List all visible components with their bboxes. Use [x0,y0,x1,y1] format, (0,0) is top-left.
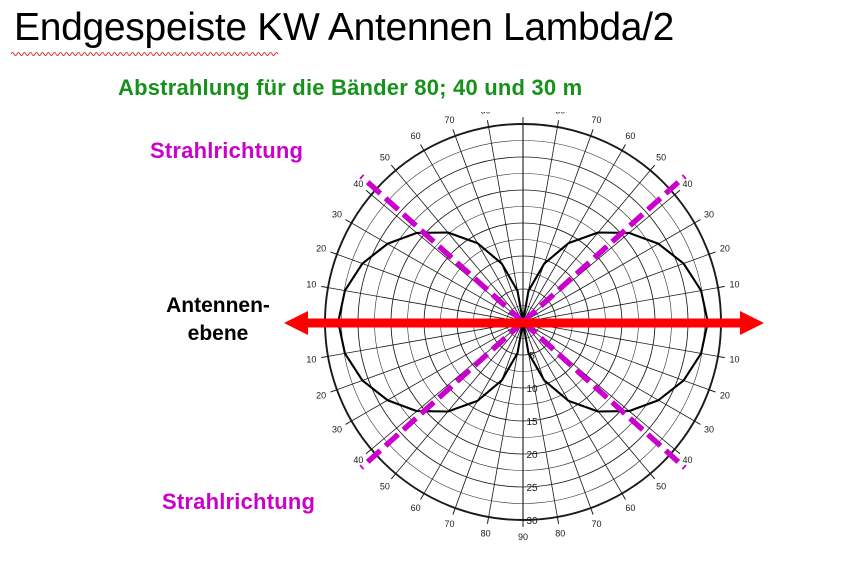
double-headed-arrow-icon [284,311,764,335]
polar-rim-label: 40 [353,179,363,189]
polar-rim-label: 80 [481,112,491,115]
polar-rim-label: 30 [704,210,714,220]
polar-rim-label: 20 [316,244,326,254]
polar-rim-label: 70 [445,115,455,125]
polar-rim-label: 20 [720,390,730,400]
polar-rim-label: 30 [704,424,714,434]
polar-rim-label: 70 [591,115,601,125]
polar-rim-label: 60 [411,131,421,141]
polar-rim-label: 40 [683,179,693,189]
polar-rim-label: 10 [306,354,316,364]
polar-radial-label: 10 [526,384,538,395]
page-title: Endgespeiste KW Antennen Lambda/2 [14,6,674,50]
polar-rim-label: 70 [445,519,455,529]
polar-rim-label: 40 [683,455,693,465]
polar-radial-label: 25 [526,483,538,494]
antenna-plane-label-line2: ebene [130,320,306,348]
polar-rim-label: 60 [411,503,421,513]
polar-rim-label: 50 [380,152,390,162]
polar-rim-label: 50 [380,482,390,492]
polar-rim-label: 50 [656,482,666,492]
polar-rim-label: 10 [730,354,740,364]
polar-rim-label: 20 [720,244,730,254]
polar-rim-label: 90 [518,532,528,542]
polar-radial-label: 20 [526,450,538,461]
polar-radial-label: 30 [526,516,538,527]
polar-rim-label: 40 [353,455,363,465]
polar-radial-label: 15 [526,417,538,428]
polar-rim-label: 80 [481,529,491,539]
page-subtitle: Abstrahlung für die Bänder 80; 40 und 30… [118,75,582,101]
antenna-plane-label-line1: Antennen- [130,292,306,320]
polar-rim-label: 80 [555,529,565,539]
polar-rim-label: 10 [306,280,316,290]
polar-radial-label: 5 [529,351,535,362]
polar-rim-label: 30 [332,424,342,434]
polar-rim-label: 60 [625,503,635,513]
polar-rim-label: 80 [555,112,565,115]
antenna-plane-label: Antennen- ebene [130,292,306,348]
spellcheck-underline [11,50,279,56]
polar-rim-label: 60 [625,131,635,141]
beam-direction-label-top: Strahlrichtung [150,138,303,164]
polar-rim-label: 20 [316,390,326,400]
polar-rim-label: 70 [591,519,601,529]
slide-canvas: Endgespeiste KW Antennen Lambda/2 Abstra… [0,0,864,570]
antenna-plane-arrow [282,306,766,340]
polar-rim-label: 10 [730,280,740,290]
polar-rim-label: 50 [656,152,666,162]
polar-rim-label: 30 [332,210,342,220]
